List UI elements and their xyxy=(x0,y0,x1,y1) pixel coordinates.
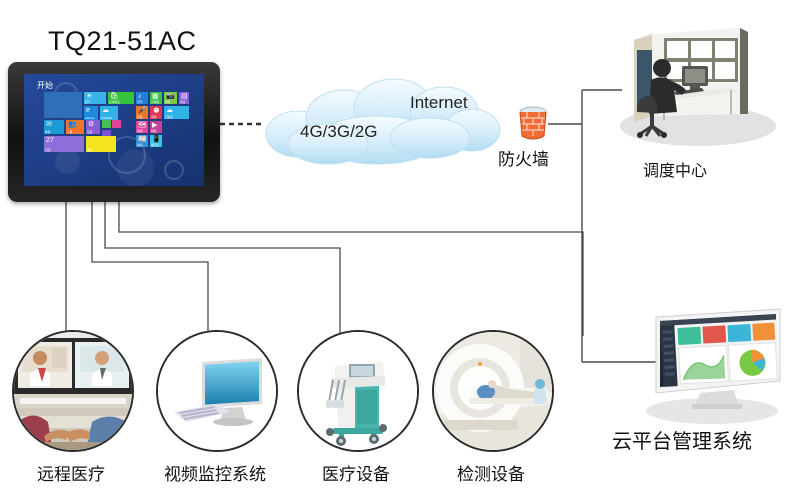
mail-tile-glyph: ✉ xyxy=(46,121,52,129)
dispatch-center-illustration xyxy=(606,22,788,152)
node-medical-equipment[interactable]: 医疗设备 xyxy=(297,330,415,485)
cloud-disk-tile-glyph: ☁ xyxy=(166,107,173,115)
tile-contacts-tile[interactable]: 📱通讯录 xyxy=(150,135,162,147)
telemedicine-photo xyxy=(12,330,134,452)
tile-weather-tile[interactable]: ☀天气 xyxy=(84,92,106,104)
cloud-disk-tile-label: 百度云 xyxy=(165,115,173,119)
node-label: 检测设备 xyxy=(432,460,550,485)
tile-mail-tile[interactable]: ✉邮件 xyxy=(44,120,64,134)
tile-people-tile[interactable]: 👥人脉 xyxy=(66,120,84,134)
cloud-platform-illustration xyxy=(630,305,795,425)
tablet-device[interactable]: 开始 ☀天气🛍应用商店eInternet☁OneDrive✉邮件👥人脉⚙设置27… xyxy=(8,62,220,202)
tile-news-tile[interactable]: 📰新闻 xyxy=(136,135,148,147)
node-label: 远程医疗 xyxy=(12,460,130,485)
node-video-surveillance[interactable]: 视频监控系统 xyxy=(156,330,274,485)
tile-notes-tile[interactable]: 便笺 xyxy=(86,136,116,152)
settings-tile-glyph: ⚙ xyxy=(88,121,94,129)
page-title: TQ21-51AC xyxy=(48,26,197,57)
tile-reader-tile[interactable]: ▤阅读 xyxy=(179,92,189,104)
alarm-tile-label: 闹钟 xyxy=(151,115,156,119)
internet-cloud: 4G/3G/2G Internet xyxy=(258,78,508,170)
cloud-internet-label: Internet xyxy=(410,93,468,113)
node-label: 医疗设备 xyxy=(297,460,415,485)
tile-video-tile[interactable]: ▶视频 xyxy=(150,121,162,133)
tablet-screen: 开始 ☀天气🛍应用商店eInternet☁OneDrive✉邮件👥人脉⚙设置27… xyxy=(24,74,204,186)
music-tile-label: 音乐 xyxy=(137,100,142,104)
tile-photo-tile[interactable] xyxy=(44,92,82,118)
deco-ring xyxy=(164,160,184,180)
weather-tile-label: 天气 xyxy=(85,100,90,104)
ie-tile-glyph: e xyxy=(86,107,90,115)
start-label: 开始 xyxy=(37,80,53,91)
settings-tile-label: 设置 xyxy=(87,130,92,134)
node-detection-equipment[interactable]: 检测设备 xyxy=(432,330,550,485)
calendar-tile-label: 日历 xyxy=(45,148,50,152)
cloud-network-label: 4G/3G/2G xyxy=(300,122,377,142)
store-tile-label: 应用商店 xyxy=(109,100,120,104)
tile-camera-tile[interactable]: 📷相机 xyxy=(164,92,177,104)
onedrive-tile-glyph: ☁ xyxy=(102,107,109,115)
video-tile-label: 视频 xyxy=(151,129,156,133)
monitor-illustration xyxy=(156,330,278,452)
node-telemedicine[interactable]: 远程医疗 xyxy=(12,330,130,485)
reader-tile-label: 阅读 xyxy=(180,100,185,104)
contacts-tile-label: 通讯录 xyxy=(151,143,159,147)
tile-calendar-tile[interactable]: 27日历 xyxy=(44,136,84,152)
people-tile-glyph: 👥 xyxy=(68,121,77,129)
firewall-icon xyxy=(517,105,549,143)
camera-tile-label: 相机 xyxy=(165,100,170,104)
tile-maps-tile[interactable]: 🗺地图 xyxy=(136,121,148,133)
dispatch-center-label: 调度中心 xyxy=(643,157,707,181)
mail-tile-label: 邮件 xyxy=(45,130,50,134)
tile-store-tile[interactable]: 🛍应用商店 xyxy=(108,92,134,104)
tile-calc-tile[interactable]: ▦计算器 xyxy=(150,92,162,104)
mic-tile-label: 录音 xyxy=(137,115,142,119)
tile-green-small-tile[interactable] xyxy=(102,120,111,128)
cloud-platform-label: 云平台管理系统 xyxy=(612,425,752,454)
node-label: 视频监控系统 xyxy=(156,460,274,485)
news-tile-label: 新闻 xyxy=(137,143,142,147)
notes-tile-label: 便笺 xyxy=(87,148,92,152)
tile-mic-tile[interactable]: 🎤录音 xyxy=(136,106,148,119)
tile-onedrive-tile[interactable]: ☁OneDrive xyxy=(100,106,118,120)
calendar-tile-glyph: 27 xyxy=(46,137,54,145)
firewall-label: 防火墙 xyxy=(498,145,549,170)
calc-tile-label: 计算器 xyxy=(151,100,159,104)
tile-magenta-small-tile[interactable] xyxy=(112,120,121,128)
tile-alarm-tile[interactable]: ⏰闹钟 xyxy=(150,106,162,119)
people-tile-label: 人脉 xyxy=(67,130,72,134)
tile-settings-tile[interactable]: ⚙设置 xyxy=(86,120,100,134)
mic-tile-glyph: 🎤 xyxy=(138,107,147,115)
maps-tile-label: 地图 xyxy=(137,129,142,133)
mri-scanner-photo xyxy=(432,330,554,452)
alarm-tile-glyph: ⏰ xyxy=(152,107,161,115)
medical-cart-illustration xyxy=(297,330,419,452)
tile-cloud-disk-tile[interactable]: ☁百度云 xyxy=(164,106,189,119)
tile-music-tile[interactable]: ♪音乐 xyxy=(136,92,148,104)
tile-ie-tile[interactable]: eInternet xyxy=(84,106,98,120)
